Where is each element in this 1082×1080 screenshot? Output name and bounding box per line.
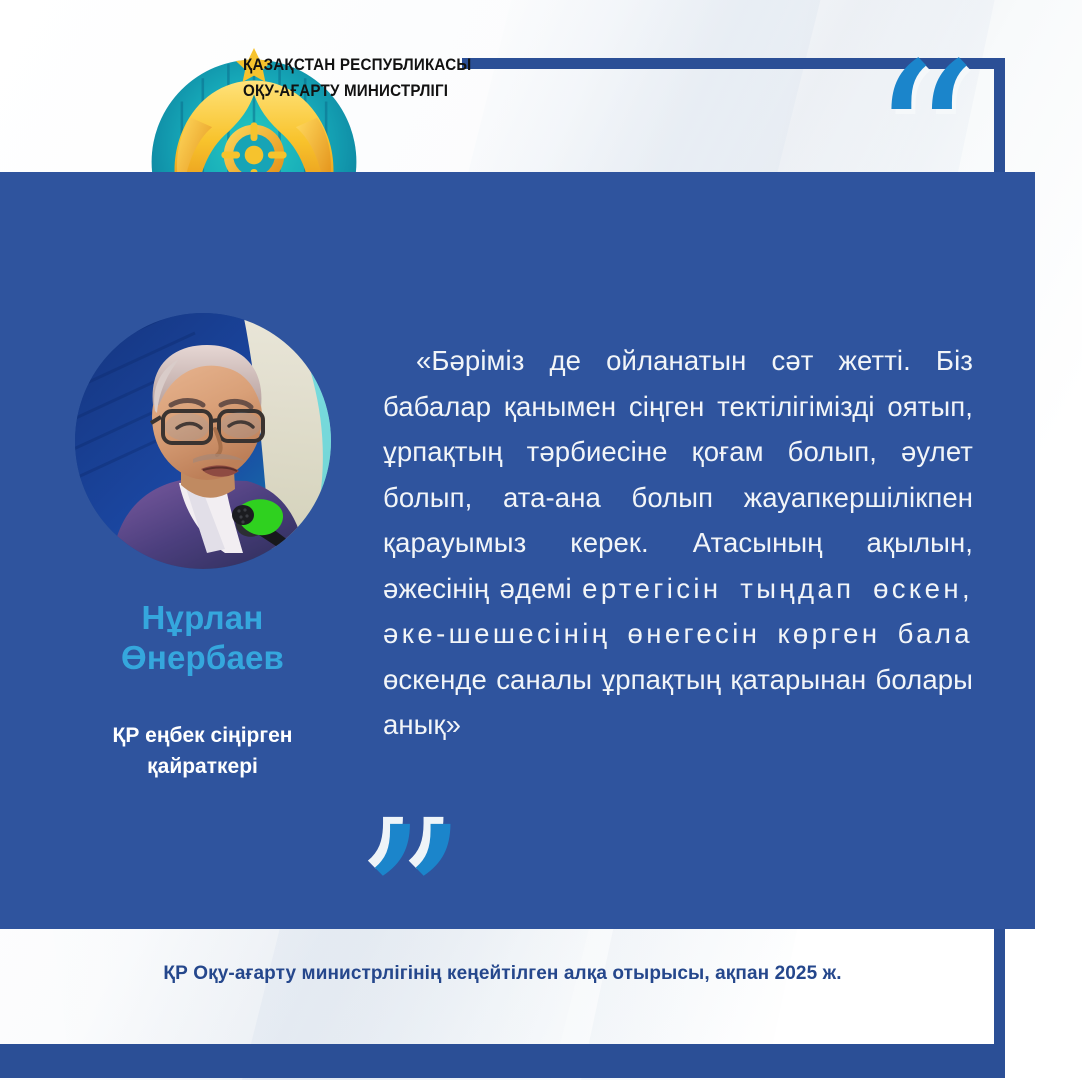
ministry-title-line2: ОҚУ-АҒАРТУ МИНИСТРЛІГІ (243, 78, 471, 104)
speaker-title-line1: ҚР еңбек сіңірген (30, 720, 375, 751)
quote-text-part-a: «Бәріміз де ойланатын сәт жетті. Біз баб… (383, 345, 973, 604)
quote-text-part-c: өскенде саналы ұрпақтың қатарынан болары… (383, 664, 973, 741)
quote-paragraph: «Бәріміз де ойланатын сәт жетті. Біз баб… (383, 338, 973, 748)
footer-caption: ҚР Оқу-ағарту министрлігінің кеңейтілген… (0, 963, 1005, 985)
frame-bottom-bar (0, 1044, 1005, 1078)
poster-canvas: QAZAQSTAN ҚАЗАҚСТАН РЕСПУБЛИКАСЫ ОҚУ-АҒА… (0, 0, 1082, 1080)
speaker-name: Нұрлан Өнербаев (20, 598, 385, 678)
speaker-name-line1: Нұрлан (20, 598, 385, 638)
ministry-title-line1: ҚАЗАҚСТАН РЕСПУБЛИКАСЫ (243, 52, 471, 78)
opening-quote-glyph: “ (870, 18, 971, 263)
quote-text: «Бәріміз де ойланатын сәт жетті. Біз баб… (383, 338, 973, 748)
speaker-name-line2: Өнербаев (20, 638, 385, 678)
speaker-portrait (75, 313, 331, 569)
speaker-title: ҚР еңбек сіңірген қайраткері (30, 720, 375, 782)
kazakhstan-coat-of-arms-icon: QAZAQSTAN (126, 34, 224, 144)
closing-quote-glyph: ” (360, 782, 461, 1027)
speaker-title-line2: қайраткері (30, 751, 375, 782)
ministry-title: ҚАЗАҚСТАН РЕСПУБЛИКАСЫ ОҚУ-АҒАРТУ МИНИСТ… (243, 52, 471, 104)
